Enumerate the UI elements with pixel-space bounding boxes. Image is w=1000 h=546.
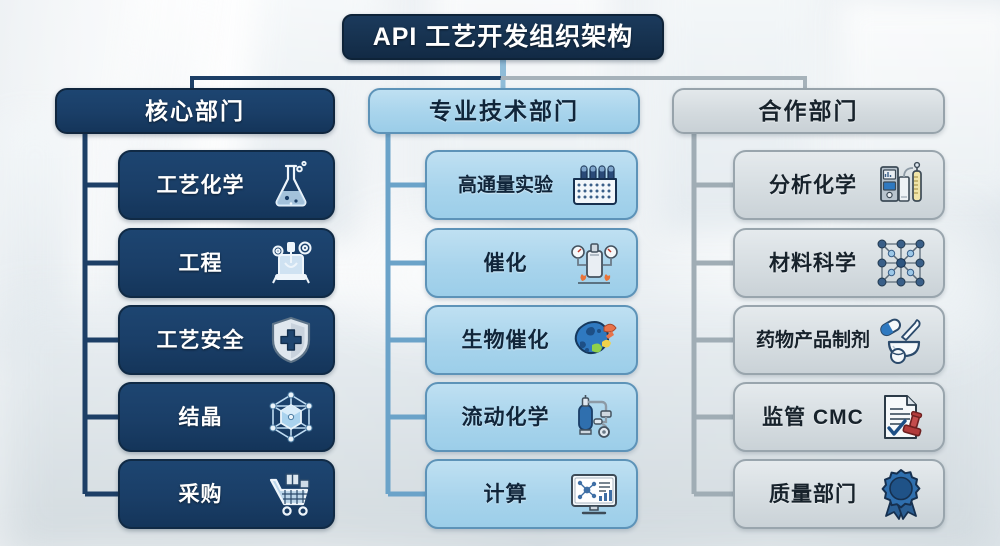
node-collab-quality[interactable]: 质量部门	[733, 459, 945, 529]
award-ribbon-icon	[873, 466, 929, 522]
column-header-tech-label: 专业技术部门	[429, 100, 579, 123]
node-label: 采购	[138, 484, 263, 505]
column-header-core-label: 核心部门	[145, 100, 245, 123]
node-core-engineering[interactable]: 工程	[118, 228, 335, 298]
node-tech-computation[interactable]: 计算	[425, 459, 638, 529]
reactor-gears-icon	[263, 235, 319, 291]
flask-icon	[263, 157, 319, 213]
node-label: 结晶	[138, 407, 263, 428]
node-tech-high-throughput[interactable]: 高通量实验	[425, 150, 638, 220]
node-label: 生物催化	[445, 330, 566, 351]
mortar-pestle-pill-icon	[873, 312, 929, 368]
node-tech-biocatalysis[interactable]: 生物催化	[425, 305, 638, 375]
crystal-structure-icon	[873, 235, 929, 291]
shopping-cart-icon	[263, 466, 319, 522]
node-core-crystallization[interactable]: 结晶	[118, 382, 335, 452]
node-label: 工艺安全	[138, 330, 263, 351]
column-header-collab[interactable]: 合作部门	[672, 88, 945, 134]
node-label: 分析化学	[753, 175, 873, 196]
column-header-tech[interactable]: 专业技术部门	[368, 88, 640, 134]
node-label: 流动化学	[445, 407, 566, 428]
flow-chemistry-icon	[566, 389, 622, 445]
node-label: 监管 CMC	[753, 407, 873, 428]
column-header-core[interactable]: 核心部门	[55, 88, 335, 134]
hplc-instrument-icon	[873, 157, 929, 213]
enzyme-icon	[566, 312, 622, 368]
node-label: 计算	[445, 484, 566, 505]
node-label: 催化	[445, 253, 566, 274]
document-stamp-icon	[873, 389, 929, 445]
computer-molecule-icon	[566, 466, 622, 522]
node-collab-materials-science[interactable]: 材料科学	[733, 228, 945, 298]
column-header-collab-label: 合作部门	[759, 100, 859, 123]
node-label: 高通量实验	[445, 176, 566, 195]
node-collab-regulatory-cmc[interactable]: 监管 CMC	[733, 382, 945, 452]
node-core-process-chemistry[interactable]: 工艺化学	[118, 150, 335, 220]
node-label: 工程	[138, 253, 263, 274]
crystal-lattice-icon	[263, 389, 319, 445]
shield-cross-icon	[263, 312, 319, 368]
node-label: 药物产品制剂	[753, 331, 873, 350]
well-plate-icon	[566, 157, 622, 213]
node-label: 质量部门	[753, 484, 873, 505]
node-label: 工艺化学	[138, 175, 263, 196]
node-label: 材料科学	[753, 253, 873, 274]
node-tech-flow-chemistry[interactable]: 流动化学	[425, 382, 638, 452]
node-collab-analytical-chemistry[interactable]: 分析化学	[733, 150, 945, 220]
node-core-procurement[interactable]: 采购	[118, 459, 335, 529]
node-core-process-safety[interactable]: 工艺安全	[118, 305, 335, 375]
pressure-reactor-icon	[566, 235, 622, 291]
chart-title: API 工艺开发组织架构	[342, 14, 664, 60]
node-tech-catalysis[interactable]: 催化	[425, 228, 638, 298]
org-chart-canvas: API 工艺开发组织架构 核心部门 工艺化学	[0, 0, 1000, 546]
chart-title-label: API 工艺开发组织架构	[373, 25, 634, 50]
node-collab-drug-product-formulation[interactable]: 药物产品制剂	[733, 305, 945, 375]
